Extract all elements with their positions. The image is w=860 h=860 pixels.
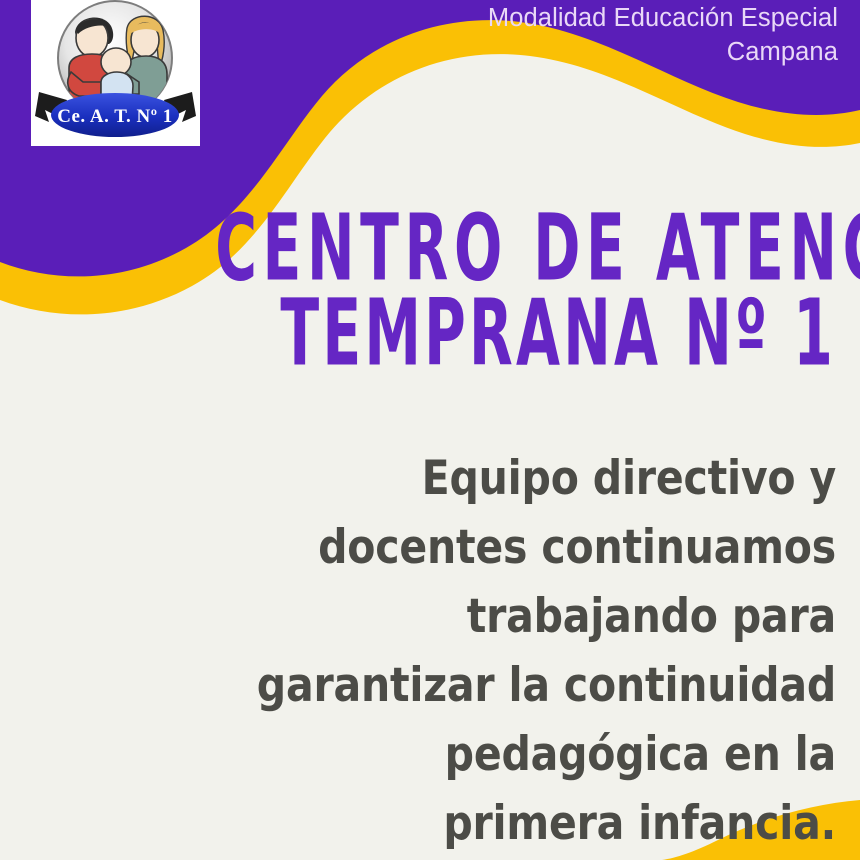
page-title: CENTRO DE ATENCIÓN TEMPRANA Nº 1	[60, 212, 836, 369]
header-line-1: Modalidad Educación Especial	[278, 2, 838, 36]
ceat-logo: Ce. A. T. Nº 1	[31, 0, 200, 146]
body-line-6: primera infancia.	[64, 789, 836, 858]
body-line-2: docentes continuamos	[64, 513, 836, 582]
poster-canvas: Modalidad Educación Especial Campana	[0, 0, 860, 860]
header-line-2: Campana	[278, 36, 838, 70]
title-line-1: CENTRO DE ATENCIÓN	[215, 206, 836, 290]
logo-artwork: Ce. A. T. Nº 1	[31, 0, 200, 146]
title-line-2: TEMPRANA Nº 1	[215, 291, 836, 375]
logo-ribbon-text: Ce. A. T. Nº 1	[57, 106, 173, 127]
body-paragraph: Equipo directivo y docentes continuamos …	[40, 444, 836, 858]
body-line-1: Equipo directivo y	[64, 444, 836, 513]
body-line-5: pedagógica en la	[64, 720, 836, 789]
header-subtitle: Modalidad Educación Especial Campana	[278, 2, 838, 70]
body-line-3: trabajando para	[64, 582, 836, 651]
body-line-4: garantizar la continuidad	[64, 651, 836, 720]
